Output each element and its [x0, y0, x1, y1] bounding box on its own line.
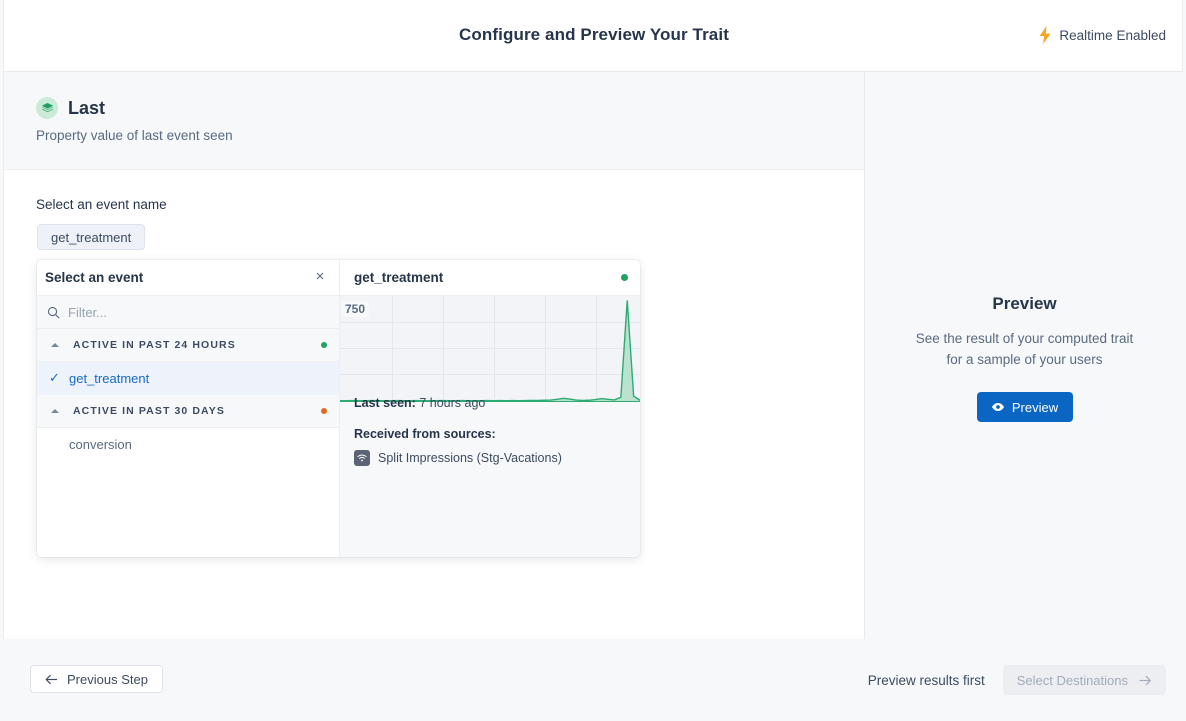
event-detail-title: get_treatment [354, 270, 443, 285]
event-name-label: Select an event name [36, 197, 167, 212]
check-icon: ✓ [49, 370, 69, 386]
list-item: Split Impressions (Stg-Vacations) [354, 450, 562, 466]
select-destinations-label: Select Destinations [1017, 673, 1128, 688]
body-wrapper: Last Property value of last event seen S… [3, 72, 1183, 639]
event-volume-chart: 750 [340, 296, 640, 380]
last-seen-line: Last seen: 7 hours ago [354, 396, 562, 410]
arrow-right-icon [1138, 675, 1152, 686]
group-label: ACTIVE IN PAST 30 DAYS [73, 405, 225, 417]
preview-subtitle-line1: See the result of your computed trait [865, 328, 1184, 349]
caret-up-icon [51, 409, 59, 413]
trait-header-band: Last Property value of last event seen [4, 72, 864, 170]
previous-step-label: Previous Step [67, 672, 148, 687]
realtime-status: Realtime Enabled [1038, 26, 1166, 44]
group-status-dot [321, 408, 327, 414]
event-filter-row [37, 296, 339, 329]
event-name-chip[interactable]: get_treatment [37, 224, 145, 250]
preview-subtitle-line2: for a sample of your users [865, 349, 1184, 370]
sources-label: Received from sources: [354, 427, 562, 441]
source-name: Split Impressions (Stg-Vacations) [378, 451, 562, 465]
event-picker-header: Select an event × [37, 260, 339, 296]
page-title: Configure and Preview Your Trait [4, 25, 1184, 45]
event-detail-info: Last seen: 7 hours ago Received from sou… [354, 396, 562, 466]
preview-panel: Preview See the result of your computed … [865, 294, 1184, 422]
eye-icon [991, 402, 1005, 412]
preview-column: Preview See the result of your computed … [865, 72, 1184, 639]
group-label: ACTIVE IN PAST 24 HOURS [73, 339, 236, 351]
app-header: Configure and Preview Your Trait Realtim… [3, 0, 1183, 72]
chart-ytick-label: 750 [342, 301, 369, 317]
preview-button[interactable]: Preview [977, 392, 1073, 422]
close-icon[interactable]: × [311, 267, 329, 285]
search-icon [47, 306, 60, 319]
footer-actions: Preview results first Select Destination… [868, 665, 1166, 695]
event-picker-popover: Select an event × ACTIVE IN PAST 24 HOUR… [37, 260, 640, 557]
search-input[interactable] [68, 305, 298, 320]
event-picker-title: Select an event [45, 270, 143, 285]
config-column: Last Property value of last event seen S… [4, 72, 864, 639]
trait-description: Property value of last event seen [36, 128, 233, 143]
preview-button-label: Preview [1012, 400, 1058, 415]
preview-first-note: Preview results first [868, 673, 985, 688]
app-footer: Previous Step Preview results first Sele… [0, 639, 1186, 721]
status-badge [621, 274, 628, 281]
event-detail-panel: get_treatment [340, 260, 640, 557]
trait-title: Last [68, 98, 105, 119]
caret-up-icon [51, 343, 59, 347]
layers-icon [36, 97, 58, 119]
event-picker-list: Select an event × ACTIVE IN PAST 24 HOUR… [37, 260, 340, 557]
list-item[interactable]: ✓ get_treatment [37, 362, 339, 395]
realtime-label: Realtime Enabled [1059, 28, 1166, 43]
group-header-24h[interactable]: ACTIVE IN PAST 24 HOURS [37, 329, 339, 362]
list-item[interactable]: conversion [37, 428, 339, 461]
preview-title: Preview [865, 294, 1184, 314]
last-seen-value: 7 hours ago [419, 396, 485, 410]
app-root: Configure and Preview Your Trait Realtim… [0, 0, 1186, 721]
select-destinations-button[interactable]: Select Destinations [1003, 665, 1166, 695]
arrow-left-icon [45, 674, 58, 685]
group-header-30d[interactable]: ACTIVE IN PAST 30 DAYS [37, 395, 339, 428]
last-seen-label: Last seen: [354, 396, 416, 410]
source-wifi-icon [354, 450, 370, 466]
list-item-label: get_treatment [69, 371, 149, 386]
previous-step-button[interactable]: Previous Step [30, 665, 163, 693]
trait-heading: Last [36, 97, 105, 119]
list-item-label: conversion [69, 437, 132, 452]
bolt-icon [1038, 26, 1052, 44]
group-status-dot [321, 342, 327, 348]
event-detail-header: get_treatment [340, 260, 640, 296]
